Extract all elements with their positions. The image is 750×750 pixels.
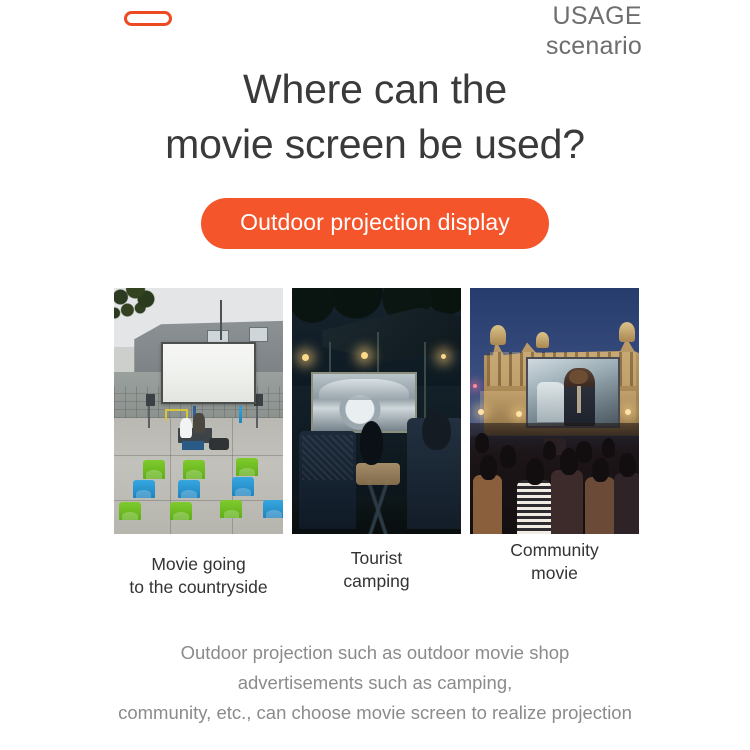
caption-countryside-movie: Movie going to the countryside — [114, 534, 283, 610]
audience-head — [475, 433, 489, 453]
caption-line-1: Movie going — [114, 553, 283, 576]
audience-head — [526, 458, 545, 485]
community-movie-photo — [470, 288, 639, 534]
decorative-pill-outline-icon — [124, 11, 172, 26]
audience-head — [543, 441, 557, 461]
plastic-stool — [220, 500, 242, 518]
building-dome — [536, 332, 549, 348]
section-eyebrow: USAGE scenario — [546, 2, 642, 61]
antenna-pole — [220, 300, 222, 339]
projection-screen — [161, 342, 256, 404]
audience-head — [480, 455, 497, 480]
projection-screen — [311, 372, 417, 434]
gallery-item[interactable] — [114, 288, 283, 534]
window — [249, 327, 268, 342]
projected-face — [569, 370, 587, 385]
caption-line-1: Tourist — [292, 547, 461, 570]
audience-torso — [551, 470, 583, 534]
projected-figure-shirt — [537, 382, 566, 422]
viewer-head — [422, 411, 451, 450]
usage-scenario-page: USAGE scenario Where can the movie scree… — [0, 0, 750, 750]
projected-microphone — [577, 386, 582, 413]
viewer-head — [360, 421, 384, 465]
speaker-stand — [148, 406, 150, 428]
audience-head — [500, 445, 515, 467]
blue-post — [239, 406, 242, 423]
eyebrow-line-1: USAGE — [546, 2, 642, 32]
plastic-stool — [133, 480, 155, 498]
scenario-description: Outdoor projection such as outdoor movie… — [0, 638, 750, 728]
blanket — [356, 463, 400, 485]
caption-tourist-camping: Tourist camping — [292, 534, 461, 610]
equipment-bag — [209, 438, 229, 450]
outdoor-projection-display-button[interactable]: Outdoor projection display — [201, 198, 549, 249]
plastic-stool — [119, 502, 141, 520]
camp-chair — [299, 431, 356, 529]
audience-head — [592, 458, 609, 483]
scenario-photo-gallery — [114, 288, 639, 534]
gallery-captions: Movie going to the countryside Tourist c… — [114, 534, 639, 610]
speaker — [146, 394, 154, 406]
gallery-item[interactable] — [470, 288, 639, 534]
person — [193, 413, 205, 433]
tree-foliage — [114, 288, 168, 332]
audience-torso — [473, 475, 502, 534]
tourist-camping-photo — [292, 288, 461, 534]
page-title-line-2: movie screen be used? — [0, 117, 750, 172]
projection-screen — [526, 357, 621, 428]
caption-community-movie: Community movie — [470, 534, 639, 610]
page-title-line-1: Where can the — [0, 62, 750, 117]
speaker-stand — [256, 406, 258, 428]
street-lamp — [516, 411, 522, 417]
person — [180, 418, 192, 438]
building-dome — [619, 322, 635, 342]
plastic-stool — [183, 460, 205, 478]
audience-head — [560, 448, 579, 475]
ground-seam — [114, 500, 283, 501]
eyebrow-line-2: scenario — [546, 32, 642, 62]
cta-container: Outdoor projection display — [0, 198, 750, 249]
audience-torso — [517, 480, 551, 534]
caption-line-2: camping — [292, 570, 461, 593]
caption-line-1: Community — [470, 539, 639, 562]
plastic-stool — [236, 458, 258, 476]
description-line-2: advertisements such as camping, — [0, 668, 750, 698]
plastic-stool — [232, 477, 254, 495]
plastic-stool — [170, 502, 192, 520]
equipment-case — [182, 441, 204, 451]
audience-torso — [614, 473, 639, 535]
audience-head — [619, 453, 636, 478]
ground-seam — [114, 455, 283, 456]
countryside-movie-photo — [114, 288, 283, 534]
description-line-1: Outdoor projection such as outdoor movie… — [0, 638, 750, 668]
caption-line-2: movie — [470, 562, 639, 585]
plastic-stool — [263, 500, 283, 518]
caption-line-2: to the countryside — [114, 576, 283, 599]
audience-head — [576, 441, 591, 463]
audience-torso — [585, 477, 615, 534]
audience-head — [602, 438, 616, 458]
projected-fender — [319, 379, 409, 400]
page-title: Where can the movie screen be used? — [0, 62, 750, 171]
gallery-item[interactable] — [292, 288, 461, 534]
plastic-stool — [178, 480, 200, 498]
plastic-stool — [143, 460, 165, 478]
building-dome — [490, 325, 506, 345]
description-line-3: community, etc., can choose movie screen… — [0, 698, 750, 728]
